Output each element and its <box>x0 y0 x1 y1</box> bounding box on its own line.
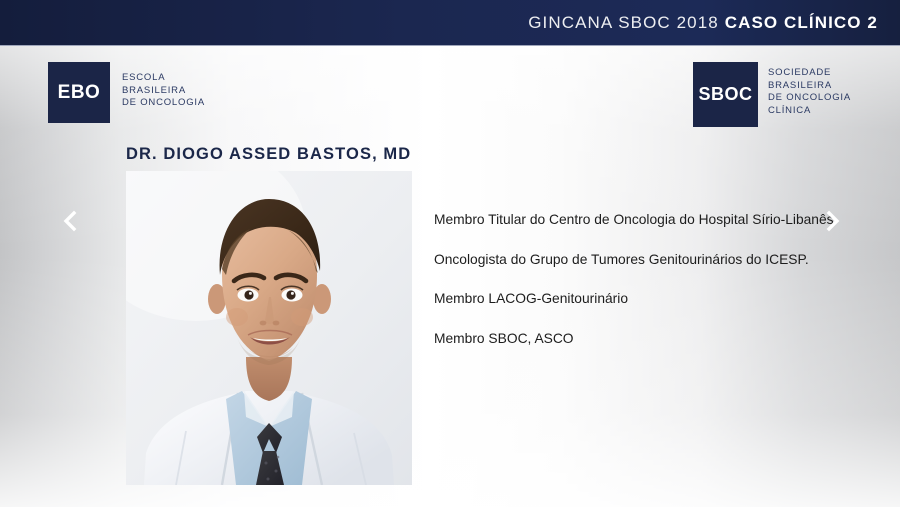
carousel-next-button[interactable] <box>818 206 848 236</box>
logo-ebo-line-1: ESCOLA <box>122 72 205 85</box>
slide-root: GINCANA SBOC 2018 CASO CLÍNICO 2 EBO ESC… <box>0 0 900 507</box>
logo-sboc-line-3: DE ONCOLOGIA <box>768 92 851 105</box>
bio-line-3: Membro LACOG-Genitourinário <box>434 288 834 310</box>
logo-sboc-mark: SBOC <box>693 62 758 127</box>
speaker-name: DR. DIOGO ASSED BASTOS, MD <box>126 145 411 164</box>
speaker-portrait-illustration <box>126 171 412 485</box>
bio-line-1: Membro Titular do Centro de Oncologia do… <box>434 209 834 231</box>
bio-line-4: Membro SBOC, ASCO <box>434 328 834 350</box>
logo-sboc-line-2: BRASILEIRA <box>768 80 851 93</box>
speaker-photo <box>126 171 412 485</box>
chevron-left-icon[interactable] <box>55 206 85 236</box>
header-title: GINCANA SBOC 2018 CASO CLÍNICO 2 <box>528 13 878 33</box>
logo-ebo-mark: EBO <box>48 62 110 123</box>
header-title-light: GINCANA SBOC 2018 <box>528 13 719 32</box>
logo-ebo-line-3: DE ONCOLOGIA <box>122 97 205 110</box>
logo-ebo: EBO ESCOLA BRASILEIRA DE ONCOLOGIA <box>48 62 205 123</box>
speaker-bio: Membro Titular do Centro de Oncologia do… <box>434 209 834 349</box>
logo-ebo-wordmark: ESCOLA BRASILEIRA DE ONCOLOGIA <box>122 72 205 110</box>
logo-sboc-line-1: SOCIEDADE <box>768 67 851 80</box>
carousel-prev-button[interactable] <box>55 206 85 236</box>
logo-sboc: SBOC SOCIEDADE BRASILEIRA DE ONCOLOGIA C… <box>693 62 851 127</box>
logo-sboc-line-4: CLÍNICA <box>768 105 851 118</box>
header-title-bold: CASO CLÍNICO 2 <box>725 13 878 32</box>
chevron-right-icon[interactable] <box>818 206 848 236</box>
header-bar: GINCANA SBOC 2018 CASO CLÍNICO 2 <box>0 0 900 46</box>
bio-line-2: Oncologista do Grupo de Tumores Genitour… <box>434 249 834 271</box>
logo-ebo-line-2: BRASILEIRA <box>122 85 205 98</box>
logo-sboc-wordmark: SOCIEDADE BRASILEIRA DE ONCOLOGIA CLÍNIC… <box>768 67 851 117</box>
